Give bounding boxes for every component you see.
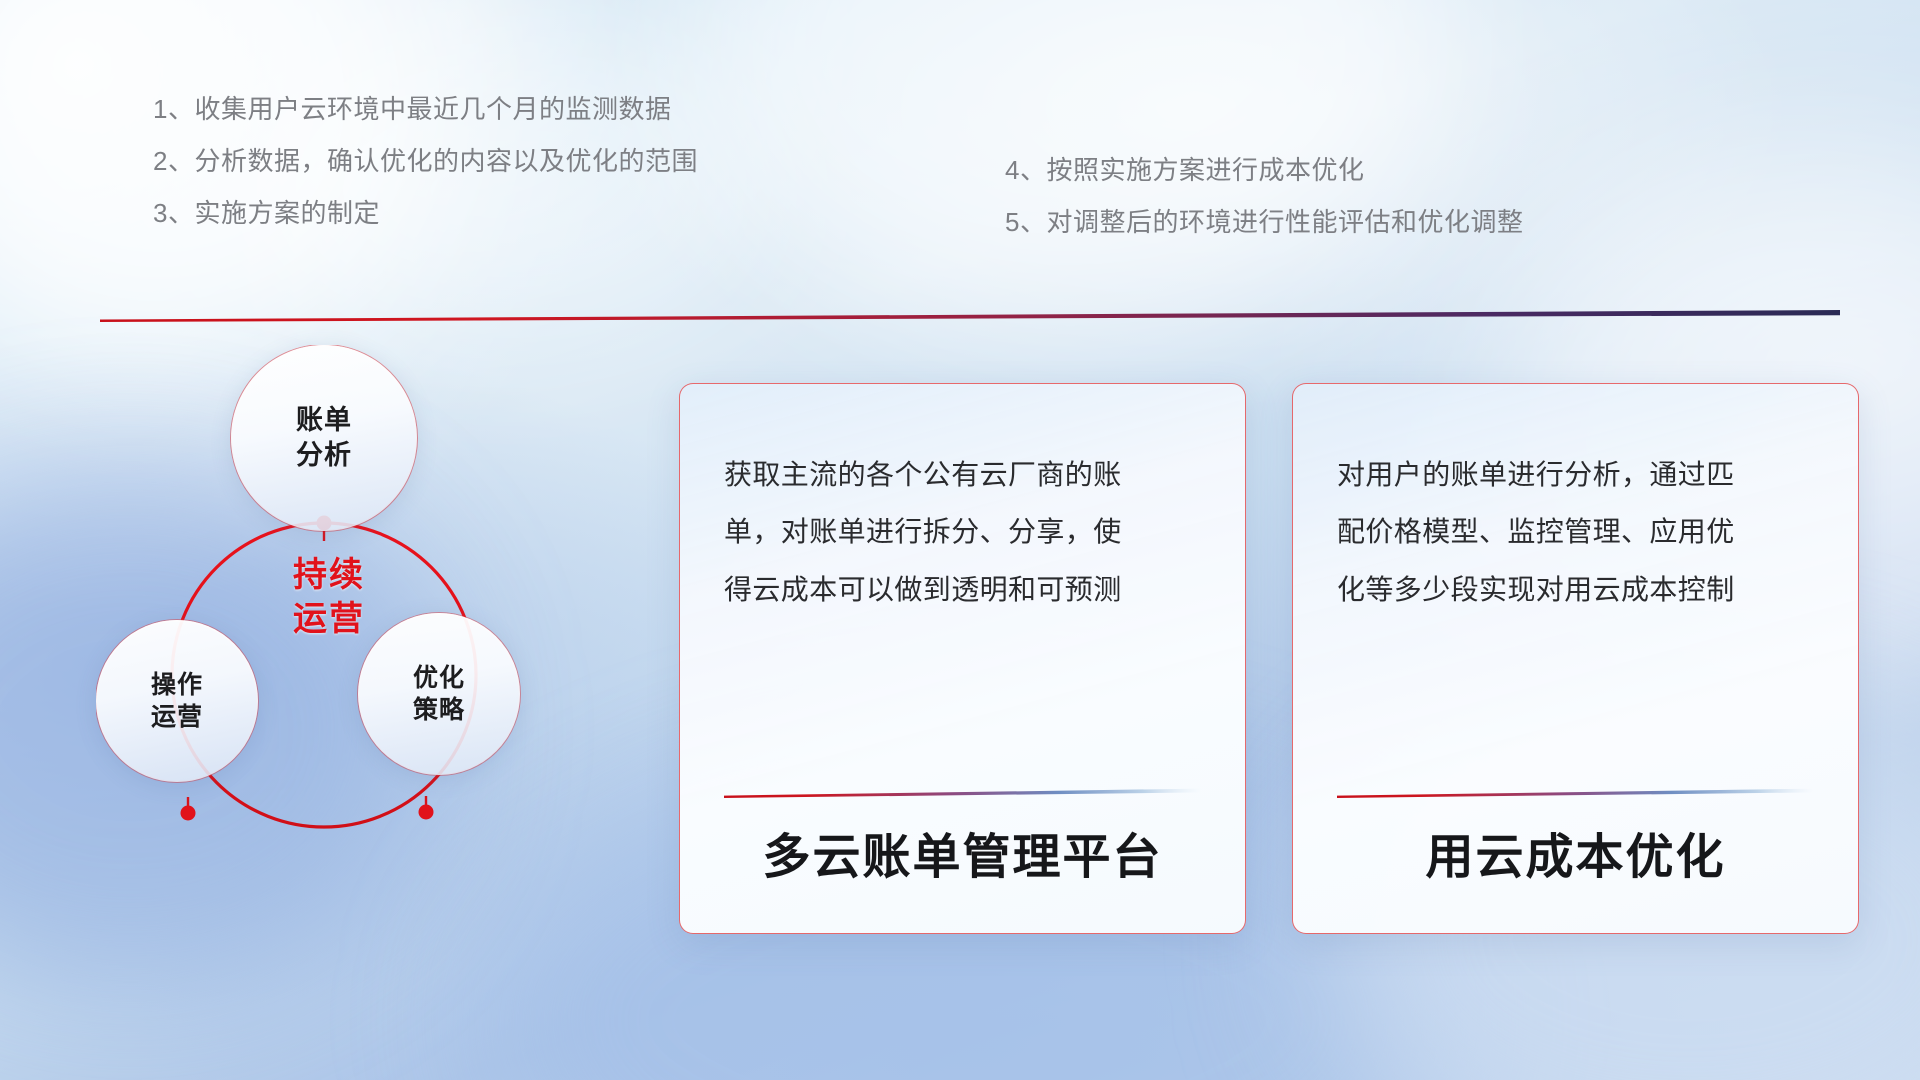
bubble-operation-ops-line2: 运营 xyxy=(151,701,203,733)
feature-card-1-divider-shape xyxy=(724,788,1201,798)
feature-card-1-body-line3: 得云成本可以做到透明和可预测 xyxy=(724,561,1201,618)
feature-card-2-body-line1: 对用户的账单进行分析，通过匹 xyxy=(1337,446,1814,503)
step-item-5: 5、对调整后的环境进行性能评估和优化调整 xyxy=(1005,209,1523,235)
continuous-operation-diagram: 账单 分析 操作 运营 优化 策略 持续 运营 xyxy=(96,345,596,945)
step-item-3: 3、实施方案的制定 xyxy=(153,200,698,226)
feature-card-1-body-line2: 单，对账单进行拆分、分享，使 xyxy=(724,503,1201,560)
cluster-center-label-line2: 运营 xyxy=(259,597,399,641)
feature-card-multicloud-billing[interactable]: 获取主流的各个公有云厂商的账 单，对账单进行拆分、分享，使 得云成本可以做到透明… xyxy=(679,383,1246,934)
step-item-2: 2、分析数据，确认优化的内容以及优化的范围 xyxy=(153,148,698,174)
steps-list-left: 1、收集用户云环境中最近几个月的监测数据 2、分析数据，确认优化的内容以及优化的… xyxy=(153,96,698,226)
bubble-optimization-strategy-line1: 优化 xyxy=(413,662,465,694)
feature-card-2-divider xyxy=(1337,788,1814,798)
cluster-center-label: 持续 运营 xyxy=(259,553,399,641)
step-item-4: 4、按照实施方案进行成本优化 xyxy=(1005,157,1523,183)
feature-card-2-title: 用云成本优化 xyxy=(1337,832,1814,885)
feature-card-2-divider-shape xyxy=(1337,788,1814,798)
bubble-bill-analysis-line2: 分析 xyxy=(296,438,352,473)
bubble-operation-ops[interactable]: 操作 运营 xyxy=(96,620,258,782)
feature-card-2-body: 对用户的账单进行分析，通过匹 配价格模型、监控管理、应用优 化等多少段实现对用云… xyxy=(1337,446,1814,618)
slide-canvas: 1、收集用户云环境中最近几个月的监测数据 2、分析数据，确认优化的内容以及优化的… xyxy=(0,0,1920,1080)
step-item-1: 1、收集用户云环境中最近几个月的监测数据 xyxy=(153,96,698,122)
feature-card-2-body-line2: 配价格模型、监控管理、应用优 xyxy=(1337,503,1814,560)
section-divider-shape xyxy=(100,310,1840,322)
feature-card-2-body-line3: 化等多少段实现对用云成本控制 xyxy=(1337,561,1814,618)
bubble-optimization-strategy-line2: 策略 xyxy=(413,694,465,726)
cluster-center-label-line1: 持续 xyxy=(259,553,399,597)
feature-card-1-body: 获取主流的各个公有云厂商的账 单，对账单进行拆分、分享，使 得云成本可以做到透明… xyxy=(724,446,1201,618)
bubble-bill-analysis-line1: 账单 xyxy=(296,403,352,438)
feature-card-1-title: 多云账单管理平台 xyxy=(724,832,1201,885)
bubble-operation-ops-line1: 操作 xyxy=(151,669,203,701)
feature-card-1-divider xyxy=(724,788,1201,798)
feature-card-cloud-cost-optimization[interactable]: 对用户的账单进行分析，通过匹 配价格模型、监控管理、应用优 化等多少段实现对用云… xyxy=(1292,383,1859,934)
feature-card-1-body-line1: 获取主流的各个公有云厂商的账 xyxy=(724,446,1201,503)
bubble-bill-analysis[interactable]: 账单 分析 xyxy=(231,345,417,531)
section-divider xyxy=(100,310,1840,322)
steps-list-right: 4、按照实施方案进行成本优化 5、对调整后的环境进行性能评估和优化调整 xyxy=(1005,157,1523,235)
